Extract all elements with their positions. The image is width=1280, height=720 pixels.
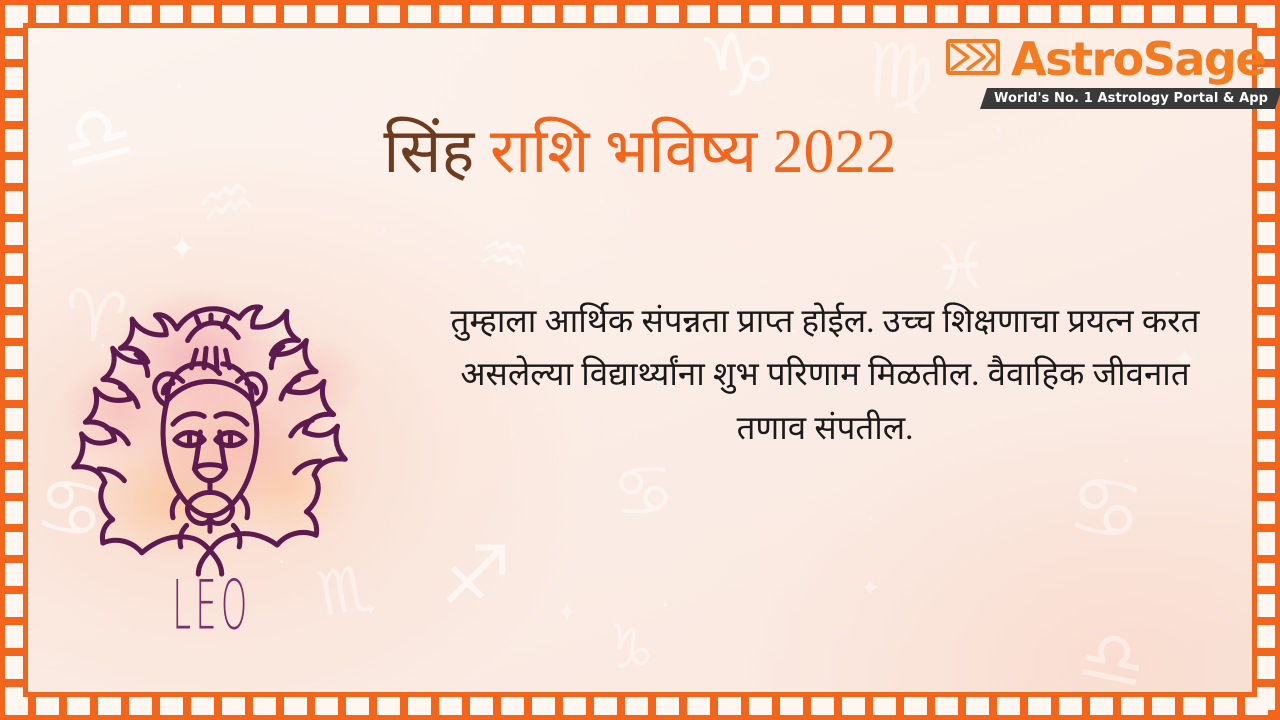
brand-tagline: World's No. 1 Astrology Portal & App [994,91,1268,106]
horoscope-card: ♎♈♋♑♒♍♐♋♋♎♏♑♓♒✦✦✦✦✦ AstroSage [0,0,1280,720]
zodiac-sign-label: LEO [107,572,318,640]
brand-name: AstroSage [1011,36,1265,82]
forecast-text: तुम्हाला आर्थिक संपन्नता प्राप्त होईल. उ… [430,296,1220,456]
page-title: सिंह राशि भविष्य 2022 [0,118,1280,187]
title-rest: राशि भविष्य 2022 [490,118,897,186]
brand-tagline-banner: World's No. 1 Astrology Portal & App [980,88,1280,109]
astrosage-logo[interactable]: AstroSage World's No. 1 Astrology Portal… [944,34,1244,114]
lion-head-icon [64,282,356,582]
zodiac-illustration: LEO [42,272,382,652]
lattice-envelope-icon [944,36,1002,83]
title-sign-name: सिंह [383,118,474,186]
